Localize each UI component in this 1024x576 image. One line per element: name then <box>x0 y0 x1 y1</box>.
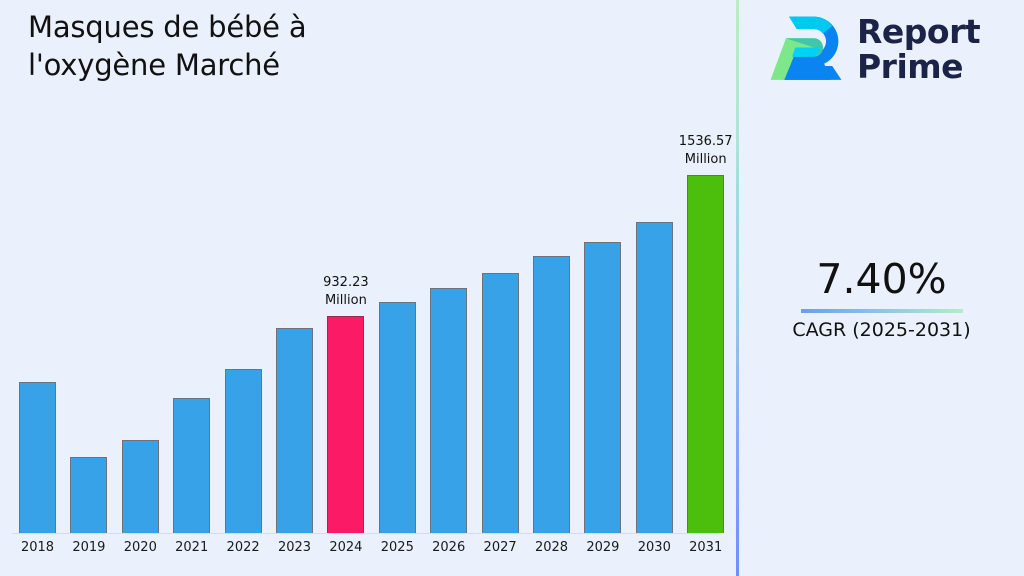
bar-2023[interactable] <box>276 328 313 533</box>
brand-wordmark: Report Prime <box>857 14 980 84</box>
bar-2022[interactable] <box>225 369 262 533</box>
brand-panel: Report Prime 7.40% CAGR (2025-2031) <box>739 0 1024 576</box>
chart-panel: Masques de bébé à l'oxygène Marché 20182… <box>0 0 737 576</box>
brand-logo[interactable]: Report Prime <box>767 12 980 86</box>
bar-2027[interactable] <box>482 273 519 533</box>
bar-2028[interactable] <box>533 256 570 533</box>
bar-2024[interactable] <box>327 316 364 533</box>
bar-chart: 2018201920202021202220232024932.23 Milli… <box>0 0 737 576</box>
x-tick-label-2031: 2031 <box>676 540 736 555</box>
market-chart-infographic: Masques de bébé à l'oxygène Marché 20182… <box>0 0 1024 576</box>
bar-2029[interactable] <box>584 242 621 533</box>
chart-baseline <box>12 533 718 534</box>
brand-wordmark-line1: Report <box>857 14 980 49</box>
bar-2021[interactable] <box>173 398 210 533</box>
bar-2025[interactable] <box>379 302 416 533</box>
cagr-divider-rule <box>801 309 963 313</box>
bar-2020[interactable] <box>122 440 159 533</box>
bar-2031[interactable] <box>687 175 724 533</box>
bar-2030[interactable] <box>636 222 673 533</box>
bar-2018[interactable] <box>19 382 56 533</box>
bar-2019[interactable] <box>70 457 107 533</box>
report-prime-logo-icon <box>767 12 845 86</box>
cagr-value: 7.40% <box>739 255 1024 303</box>
bar-2026[interactable] <box>430 288 467 533</box>
cagr-caption: CAGR (2025-2031) <box>739 317 1024 343</box>
brand-wordmark-line2: Prime <box>857 49 980 84</box>
cagr-block: 7.40% CAGR (2025-2031) <box>739 255 1024 343</box>
